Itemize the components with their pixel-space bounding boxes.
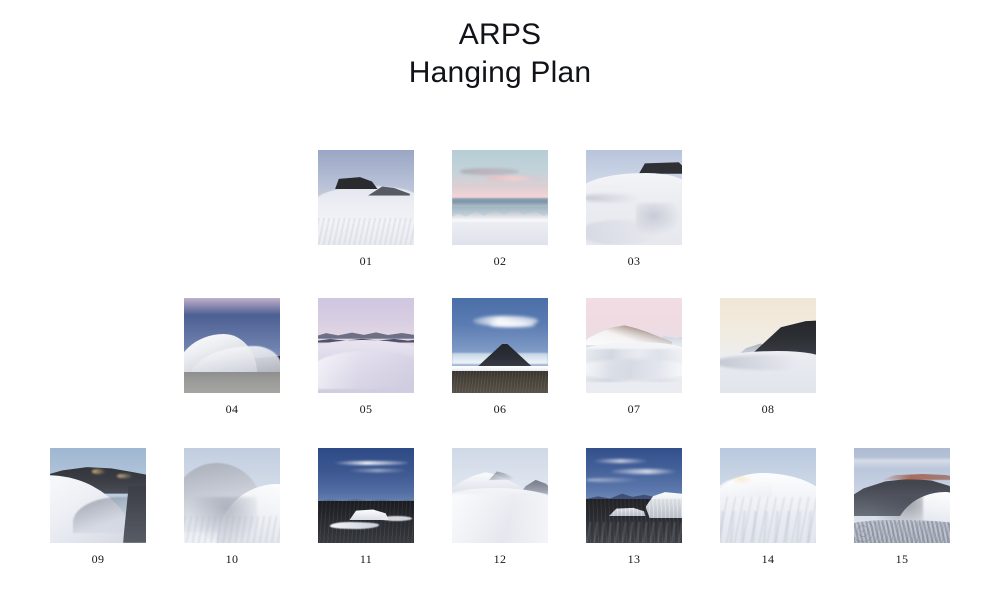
floor-layer — [184, 372, 280, 393]
plate-cell-15[interactable]: 15 — [835, 448, 969, 566]
plate-label-06: 06 — [494, 402, 507, 416]
page-title-line-2: Hanging Plan — [0, 54, 1000, 92]
plate-thumbnail-04[interactable] — [184, 298, 280, 393]
dune-sweep-layer — [318, 351, 414, 389]
plate-label-15: 15 — [896, 552, 909, 566]
ripple-texture-layer — [184, 516, 280, 543]
cloud-layer-upper — [460, 168, 520, 175]
cirrus-layer-2 — [611, 469, 678, 474]
snow-texture-layer — [318, 218, 414, 245]
plate-label-01: 01 — [360, 254, 373, 268]
plate-label-10: 10 — [226, 552, 239, 566]
plate-thumbnail-08[interactable] — [720, 298, 816, 393]
plate-thumbnail-14[interactable] — [720, 448, 816, 543]
plate-cell-04[interactable]: 04 — [165, 298, 299, 416]
plate-label-09: 09 — [92, 552, 105, 566]
plate-thumbnail-02[interactable] — [452, 150, 548, 245]
slope-highlight-layer — [452, 494, 548, 543]
cloud-band-layer — [854, 459, 950, 469]
plate-thumbnail-12[interactable] — [452, 448, 548, 543]
plate-cell-13[interactable]: 13 — [567, 448, 701, 566]
hanging-plan-page: ARPS Hanging Plan 01 — [0, 0, 1000, 589]
plate-thumbnail-11[interactable] — [318, 448, 414, 543]
plate-thumbnail-13[interactable] — [586, 448, 682, 543]
plate-cell-07[interactable]: 07 — [567, 298, 701, 416]
plate-cell-14[interactable]: 14 — [701, 448, 835, 566]
plate-row-3: 09 10 11 — [0, 448, 1000, 560]
plate-cell-03[interactable]: 03 — [567, 150, 701, 268]
page-title: ARPS Hanging Plan — [0, 16, 1000, 92]
plate-label-14: 14 — [762, 552, 775, 566]
cirrus-layer-secondary — [347, 469, 408, 472]
plate-thumbnail-10[interactable] — [184, 448, 280, 543]
plate-thumbnail-07[interactable] — [586, 298, 682, 393]
plate-label-05: 05 — [360, 402, 373, 416]
plate-cell-02[interactable]: 02 — [433, 150, 567, 268]
warm-glow-layer — [730, 475, 753, 485]
foreground-layer — [452, 222, 548, 245]
plate-cell-12[interactable]: 12 — [433, 448, 567, 566]
plate-label-12: 12 — [494, 552, 507, 566]
sastrugi-layer-secondary — [586, 359, 682, 380]
plate-cell-06[interactable]: 06 — [433, 298, 567, 416]
plate-cell-05[interactable]: 05 — [299, 298, 433, 416]
foreground-streaks-layer — [586, 522, 682, 543]
plain-shadow-layer — [720, 355, 816, 370]
plate-cell-01[interactable]: 01 — [299, 150, 433, 268]
distant-band-layer — [452, 198, 548, 207]
plate-label-04: 04 — [226, 402, 239, 416]
plate-row-1: 01 02 03 — [0, 150, 1000, 262]
plate-label-02: 02 — [494, 254, 507, 268]
plate-cell-09[interactable]: 09 — [31, 448, 165, 566]
plate-thumbnail-01[interactable] — [318, 150, 414, 245]
plate-label-08: 08 — [762, 402, 775, 416]
plate-thumbnail-09[interactable] — [50, 448, 146, 543]
page-title-line-1: ARPS — [0, 16, 1000, 54]
ash-texture-layer — [452, 371, 548, 393]
sunlit-highlight-left — [92, 469, 105, 474]
plate-thumbnail-06[interactable] — [452, 298, 548, 393]
plate-label-13: 13 — [628, 552, 641, 566]
ripple-layer-2 — [720, 511, 816, 543]
plate-row-2: 04 05 06 — [0, 298, 1000, 410]
plate-label-11: 11 — [360, 552, 372, 566]
plate-cell-10[interactable]: 10 — [165, 448, 299, 566]
plate-cell-08[interactable]: 08 — [701, 298, 835, 416]
plate-thumbnail-15[interactable] — [854, 448, 950, 543]
plate-label-07: 07 — [628, 402, 641, 416]
plate-thumbnail-03[interactable] — [586, 150, 682, 245]
snow-patch-foreground — [330, 522, 380, 529]
plate-cell-11[interactable]: 11 — [299, 448, 433, 566]
gravel-texture-layer — [854, 522, 950, 543]
plate-thumbnail-05[interactable] — [318, 298, 414, 393]
plate-label-03: 03 — [628, 254, 641, 268]
